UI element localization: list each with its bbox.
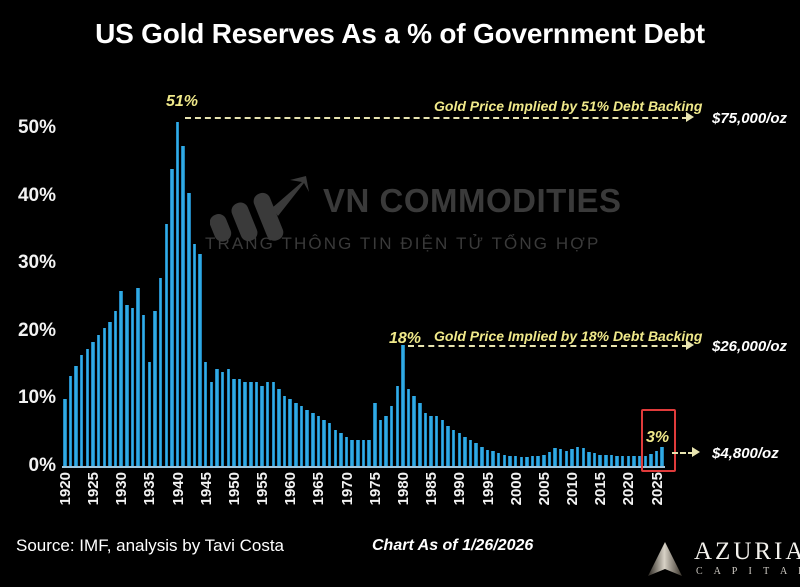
bar-1978 xyxy=(390,406,393,467)
bar-1945 xyxy=(204,362,207,467)
x-tick-2010: 2010 xyxy=(564,472,581,505)
bar-1936 xyxy=(153,311,156,467)
bar-2010 xyxy=(570,449,573,467)
bar-1955 xyxy=(260,386,263,467)
bar-1942 xyxy=(187,193,190,467)
source-note: Source: IMF, analysis by Tavi Costa xyxy=(16,536,284,556)
bar-1979 xyxy=(396,386,399,467)
bar-1950 xyxy=(232,379,235,467)
brand-tagline: C A P I T A L xyxy=(696,566,800,577)
azuria-mark-icon xyxy=(644,541,686,577)
bar-1995 xyxy=(486,450,489,467)
annotation-peak-51-price: $75,000/oz xyxy=(712,110,787,127)
annotation-current-3-line xyxy=(672,452,694,454)
bar-1952 xyxy=(243,382,246,467)
bar-1972 xyxy=(356,440,359,467)
y-tick-0: 0% xyxy=(4,455,56,477)
x-axis: 1920192519301935194019451950195519601965… xyxy=(62,472,665,532)
bar-1977 xyxy=(384,416,387,467)
bar-1987 xyxy=(441,420,444,467)
bar-1934 xyxy=(142,315,145,467)
annotation-peak-51-value: 51% xyxy=(166,93,198,111)
x-tick-1945: 1945 xyxy=(198,472,215,505)
axis-baseline xyxy=(62,466,665,468)
x-tick-1925: 1925 xyxy=(85,472,102,505)
annotation-peak-51-label: Gold Price Implied by 51% Debt Backing xyxy=(434,98,702,114)
bar-1964 xyxy=(311,413,314,467)
bar-1943 xyxy=(193,244,196,467)
bar-1993 xyxy=(474,443,477,467)
bar-1980 xyxy=(401,345,404,467)
bar-1946 xyxy=(210,382,213,467)
x-tick-1990: 1990 xyxy=(451,472,468,505)
bar-1986 xyxy=(435,416,438,467)
page-title: US Gold Reserves As a % of Government De… xyxy=(0,18,800,50)
bar-1996 xyxy=(491,451,494,467)
annotation-peak-18-line xyxy=(408,345,688,347)
bar-1985 xyxy=(429,416,432,467)
x-tick-1935: 1935 xyxy=(141,472,158,505)
brand-name: AZURIA xyxy=(694,538,800,566)
bar-1974 xyxy=(367,440,370,467)
bar-1991 xyxy=(463,437,466,467)
x-tick-2025: 2025 xyxy=(649,472,666,505)
bar-1959 xyxy=(283,396,286,467)
x-tick-2005: 2005 xyxy=(536,472,553,505)
bar-1932 xyxy=(131,308,134,467)
y-tick-50: 50% xyxy=(4,117,56,139)
chart-date: Chart As of 1/26/2026 xyxy=(372,537,533,555)
bar-1981 xyxy=(407,389,410,467)
x-tick-1920: 1920 xyxy=(57,472,74,505)
bar-1970 xyxy=(345,437,348,467)
bar-1920 xyxy=(63,399,66,467)
bar-1923 xyxy=(80,355,83,467)
x-tick-1985: 1985 xyxy=(423,472,440,505)
bar-1954 xyxy=(255,382,258,467)
bar-1968 xyxy=(334,430,337,467)
bar-1928 xyxy=(108,322,111,467)
bar-1939 xyxy=(170,169,173,467)
bar-1990 xyxy=(458,433,461,467)
bar-plot-area xyxy=(62,95,665,467)
bar-1925 xyxy=(91,342,94,467)
bar-1929 xyxy=(114,311,117,467)
bar-1931 xyxy=(125,305,128,467)
bar-1941 xyxy=(181,146,184,467)
bar-2008 xyxy=(559,449,562,467)
bar-1988 xyxy=(446,426,449,467)
bar-1971 xyxy=(350,440,353,467)
bar-1937 xyxy=(159,278,162,467)
bar-1924 xyxy=(86,349,89,467)
x-tick-1975: 1975 xyxy=(367,472,384,505)
x-tick-1970: 1970 xyxy=(339,472,356,505)
annotation-peak-51-line xyxy=(185,117,688,119)
bar-1984 xyxy=(424,413,427,467)
bar-2011 xyxy=(576,447,579,467)
bar-1956 xyxy=(266,382,269,467)
bar-2014 xyxy=(593,453,596,467)
x-tick-1965: 1965 xyxy=(310,472,327,505)
bar-1944 xyxy=(198,254,201,467)
bar-1997 xyxy=(497,453,500,467)
y-tick-40: 40% xyxy=(4,185,56,207)
x-tick-2000: 2000 xyxy=(508,472,525,505)
bar-1951 xyxy=(238,379,241,467)
bar-1976 xyxy=(379,420,382,467)
x-tick-1940: 1940 xyxy=(170,472,187,505)
bar-1926 xyxy=(97,335,100,467)
annotation-peak-18-label: Gold Price Implied by 18% Debt Backing xyxy=(434,328,702,344)
azuria-brand: AZURIA C A P I T A L xyxy=(644,538,794,580)
bar-1962 xyxy=(300,406,303,467)
bar-1969 xyxy=(339,433,342,467)
bar-1989 xyxy=(452,430,455,467)
x-tick-2015: 2015 xyxy=(592,472,609,505)
bar-1938 xyxy=(165,224,168,467)
bar-2009 xyxy=(565,451,568,467)
bar-2013 xyxy=(587,452,590,467)
bar-1947 xyxy=(215,369,218,467)
bar-1933 xyxy=(136,288,139,467)
bar-1927 xyxy=(103,328,106,467)
annotation-peak-18-price: $26,000/oz xyxy=(712,338,787,355)
annotation-current-3-arrow-icon xyxy=(692,447,700,457)
annotation-current-3-value: 3% xyxy=(646,429,669,447)
bar-1966 xyxy=(322,420,325,467)
bar-2012 xyxy=(582,448,585,467)
bar-2007 xyxy=(553,448,556,467)
bar-1953 xyxy=(249,382,252,467)
bar-1961 xyxy=(294,403,297,467)
x-tick-1995: 1995 xyxy=(480,472,497,505)
y-tick-20: 20% xyxy=(4,320,56,342)
x-tick-1930: 1930 xyxy=(113,472,130,505)
bar-1922 xyxy=(74,366,77,467)
bar-1921 xyxy=(69,376,72,467)
bar-1930 xyxy=(119,291,122,467)
bar-1940 xyxy=(176,122,179,467)
x-tick-1960: 1960 xyxy=(282,472,299,505)
bar-1994 xyxy=(480,447,483,467)
x-tick-1980: 1980 xyxy=(395,472,412,505)
y-tick-30: 30% xyxy=(4,252,56,274)
bar-1963 xyxy=(305,410,308,467)
bar-2006 xyxy=(548,452,551,467)
x-tick-2020: 2020 xyxy=(620,472,637,505)
x-tick-1950: 1950 xyxy=(226,472,243,505)
bar-1965 xyxy=(317,416,320,467)
bar-1949 xyxy=(227,369,230,467)
bar-1975 xyxy=(373,403,376,467)
bar-1948 xyxy=(221,372,224,467)
x-tick-1955: 1955 xyxy=(254,472,271,505)
y-axis: 0%10%20%30%40%50% xyxy=(0,0,56,587)
bar-1960 xyxy=(288,399,291,467)
bar-1973 xyxy=(362,440,365,467)
bar-1935 xyxy=(148,362,151,467)
bar-1983 xyxy=(418,403,421,467)
bar-1992 xyxy=(469,440,472,467)
bar-1982 xyxy=(412,396,415,467)
bar-1958 xyxy=(277,389,280,467)
chart-container: US Gold Reserves As a % of Government De… xyxy=(0,0,800,587)
annotation-current-3-price: $4,800/oz xyxy=(712,445,779,462)
y-tick-10: 10% xyxy=(4,387,56,409)
bar-1967 xyxy=(328,423,331,467)
bar-1957 xyxy=(272,382,275,467)
